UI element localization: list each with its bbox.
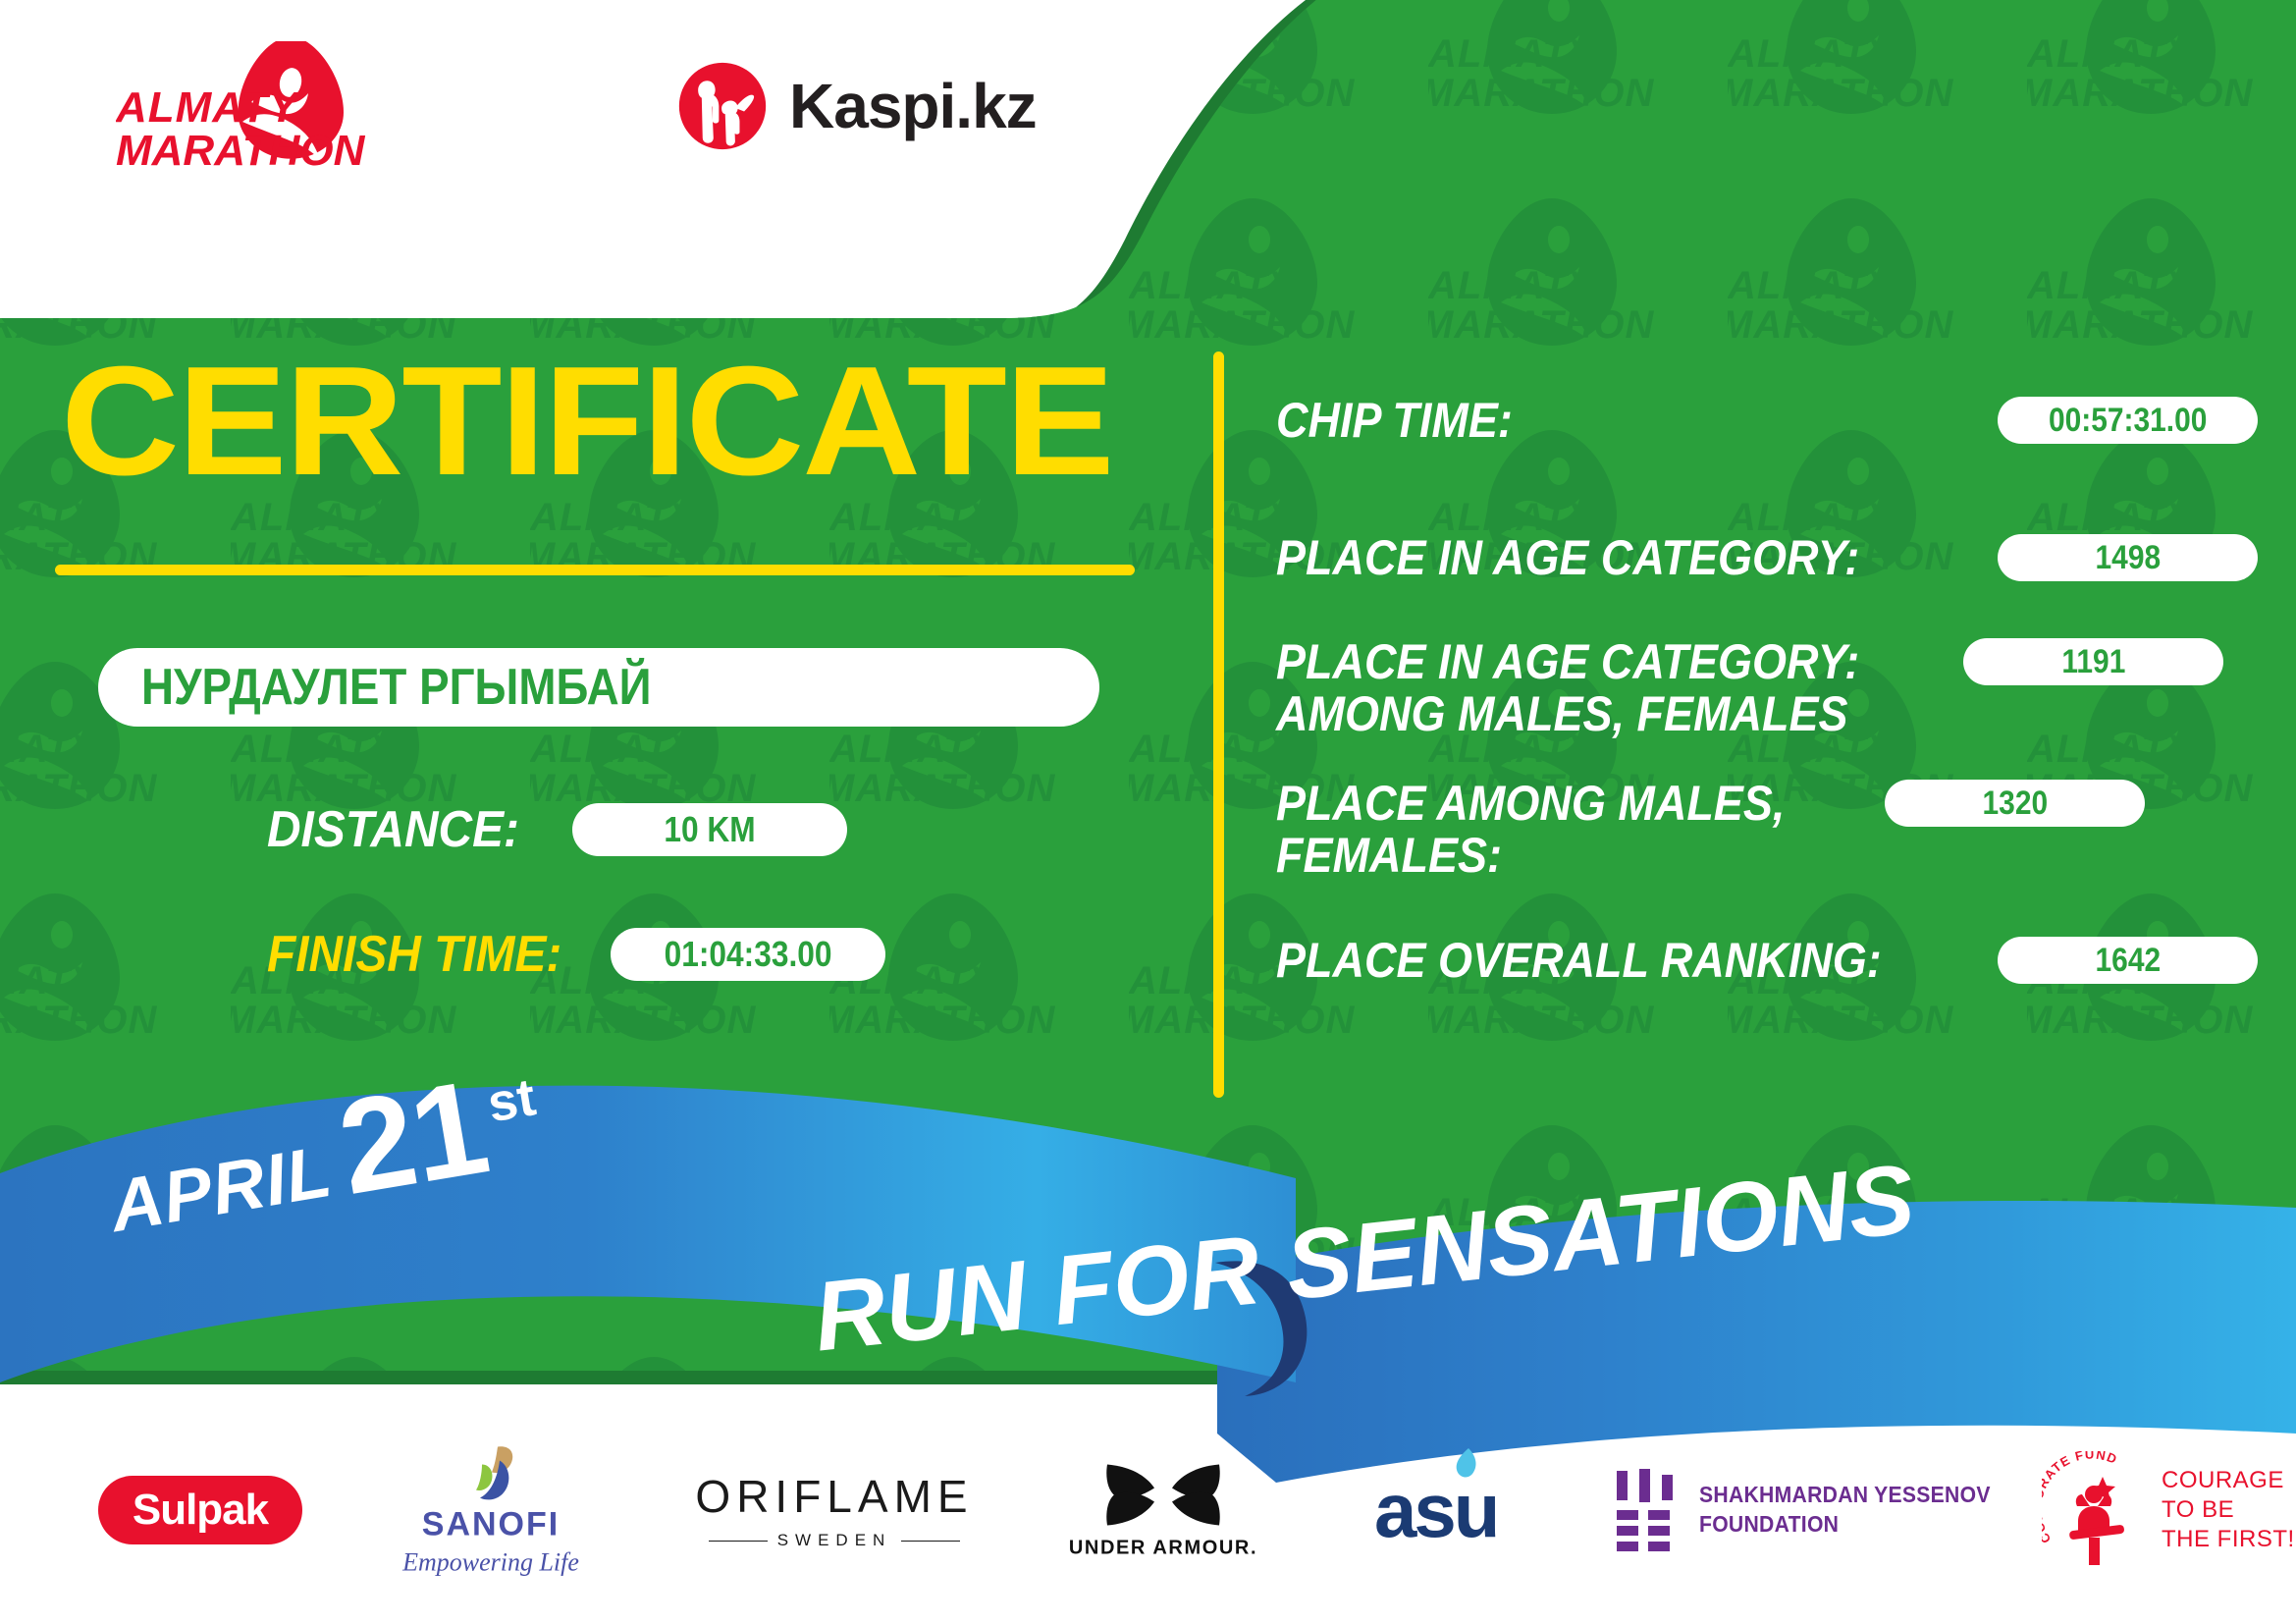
oriflame-rule-right [901, 1541, 960, 1542]
result-row-overall: PLACE OVERALL RANKING: 1642 [1276, 935, 2258, 987]
distance-label: DISTANCE: [267, 800, 519, 859]
athlete-name: НУРДАУЛЕТ РГЫМБАЙ [141, 658, 652, 717]
chip-time-value-pill[interactable]: 00:57:31.00 [1998, 397, 2258, 444]
yessenov-line2: FOUNDATION [1699, 1510, 1991, 1540]
corporate-fund-slogan: COURAGE TO BE THE FIRST! [2162, 1466, 2295, 1554]
cf-line3: THE FIRST! [2162, 1525, 2295, 1554]
sulpak-wordmark: Sulpak [133, 1486, 268, 1535]
ribbon-day: 21 [332, 1072, 493, 1204]
distance-row: DISTANCE: 10 KM [267, 800, 847, 859]
under-armour-icon [1099, 1461, 1227, 1532]
yessenov-line1: SHAKHMARDAN YESSENOV [1699, 1481, 1991, 1510]
sponsor-sulpak[interactable]: Sulpak [98, 1476, 302, 1544]
place-among-gender-label: PLACE AMONG MALES, FEMALES: [1276, 778, 1824, 882]
logo-line2: MARATHON [116, 127, 366, 174]
almaty-marathon-logo[interactable]: ALMATY MARATHON [116, 41, 420, 174]
certificate-title: CERTIFICATE [61, 344, 1112, 499]
place-overall-value: 1642 [2095, 942, 2161, 980]
cf-line1: COURAGE [2162, 1466, 2295, 1495]
sponsor-corporate-fund[interactable]: CORPORATE FUND COURAGE TO BE THE FIRST! [2042, 1451, 2295, 1569]
ribbon-ordinal: st [483, 1066, 540, 1134]
yessenov-bars-icon [1615, 1469, 1676, 1551]
asu-wordmark: asu [1374, 1472, 1497, 1548]
sanofi-tagline: Empowering Life [383, 1548, 599, 1578]
result-row-among-gender: PLACE AMONG MALES, FEMALES: 1320 [1276, 778, 2258, 882]
place-age-category-value-pill[interactable]: 1498 [1998, 534, 2258, 581]
sponsor-under-armour[interactable]: UNDER ARMOUR. [1055, 1461, 1271, 1560]
distance-value: 10 KM [665, 809, 756, 850]
header-logos: ALMATY MARATHON Kaspi.kz [0, 0, 1178, 255]
place-age-category-gender-value: 1191 [2061, 643, 2125, 681]
result-row-chip-time: CHIP TIME: 00:57:31.00 [1276, 395, 2258, 447]
place-overall-label: PLACE OVERALL RANKING: [1276, 935, 1926, 987]
distance-value-pill[interactable]: 10 KM [572, 803, 847, 856]
sanofi-icon [454, 1443, 527, 1504]
finish-time-row: FINISH TIME: 01:04:33.00 [267, 925, 885, 984]
sponsor-asu[interactable]: asu [1374, 1472, 1497, 1548]
place-age-category-label: PLACE IN AGE CATEGORY: [1276, 532, 1926, 584]
place-among-gender-value-pill[interactable]: 1320 [1885, 780, 2145, 827]
sponsor-sanofi[interactable]: SANOFI Empowering Life [383, 1443, 599, 1578]
sponsor-oriflame[interactable]: ORIFLAME SWEDEN [687, 1470, 982, 1550]
oriflame-wordmark: ORIFLAME [687, 1470, 982, 1523]
vertical-divider [1213, 352, 1224, 1098]
certificate-page: ALMATY MARATHON [0, 0, 2296, 1624]
sponsor-bar: Sulpak SANOFI Empowering Life ORIFLAME S… [0, 1422, 2296, 1598]
chip-time-value: 00:57:31.00 [2049, 402, 2207, 440]
result-row-age-category-gender: PLACE IN AGE CATEGORY: AMONG MALES, FEMA… [1276, 636, 2258, 740]
result-row-age-category: PLACE IN AGE CATEGORY: 1498 [1276, 532, 2258, 584]
corporate-fund-icon: CORPORATE FUND [2042, 1451, 2150, 1569]
logo-line1: ALMATY [116, 83, 301, 132]
sanofi-wordmark: SANOFI [383, 1506, 599, 1544]
athlete-name-field[interactable]: НУРДАУЛЕТ РГЫМБАЙ [98, 648, 1099, 727]
place-among-gender-value: 1320 [1982, 785, 2048, 823]
finish-time-label: FINISH TIME: [267, 925, 561, 984]
sponsor-yessenov-foundation[interactable]: SHAKHMARDAN YESSENOV FOUNDATION [1615, 1469, 2016, 1551]
cf-line2: TO BE [2162, 1495, 2295, 1525]
title-underline [55, 565, 1135, 575]
yessenov-wordmark: SHAKHMARDAN YESSENOV FOUNDATION [1699, 1481, 1991, 1540]
oriflame-tagline: SWEDEN [777, 1531, 892, 1550]
asu-droplet-icon [1451, 1446, 1480, 1480]
place-age-category-gender-label: PLACE IN AGE CATEGORY: AMONG MALES, FEMA… [1276, 636, 1895, 740]
place-overall-value-pill[interactable]: 1642 [1998, 937, 2258, 984]
chip-time-label: CHIP TIME: [1276, 395, 1926, 447]
kaspi-wordmark: Kaspi.kz [789, 75, 1037, 137]
place-age-category-gender-value-pill[interactable]: 1191 [1963, 638, 2223, 685]
under-armour-wordmark: UNDER ARMOUR. [1055, 1538, 1271, 1560]
kaspi-people-circle-icon [677, 61, 768, 151]
oriflame-rule-left [709, 1541, 768, 1542]
place-age-category-value: 1498 [2095, 539, 2161, 577]
finish-time-value-pill[interactable]: 01:04:33.00 [611, 928, 885, 981]
finish-time-value: 01:04:33.00 [665, 934, 832, 975]
kaspi-logo[interactable]: Kaspi.kz [677, 61, 1037, 151]
